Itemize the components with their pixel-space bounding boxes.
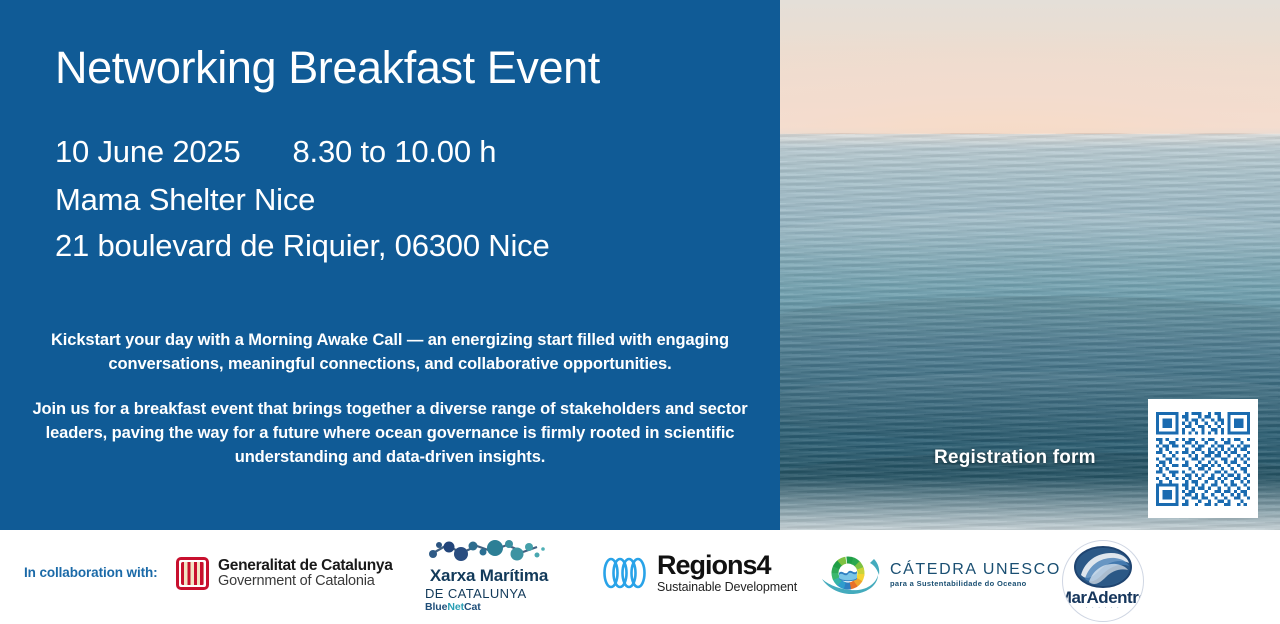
bluenetcat-cat: Cat: [464, 601, 481, 613]
regions4-subtitle: Sustainable Development: [657, 581, 797, 594]
catalonia-shield-icon: [176, 557, 209, 590]
logo-generalitat-de-catalunya[interactable]: Generalitat de Catalunya Government of C…: [176, 557, 393, 590]
maradentro-circle: MarAdentro · · · · · ·: [1062, 540, 1144, 622]
xarxa-name: Xarxa Marítima: [430, 566, 548, 586]
wave-band: [780, 212, 1280, 266]
collaboration-label: In collaboration with:: [24, 565, 158, 580]
description-paragraph-2: Join us for a breakfast event that bring…: [14, 398, 766, 470]
bluenetcat-wordmark: BlueNetCat: [425, 601, 481, 613]
event-poster: Networking Breakfast Event 10 June 20258…: [0, 0, 1280, 624]
event-venue: Mama Shelter Nice: [55, 182, 315, 218]
sunset-sky-glow: [780, 0, 1280, 134]
event-time: 8.30 to 10.00 h: [293, 134, 497, 170]
unesco-subtitle: para a Sustentabilidade do Oceano: [890, 580, 1061, 589]
xarxa-subtitle: DE CATALUNYA: [425, 586, 527, 601]
overlapping-ellipses-icon: [602, 555, 650, 591]
sdg-wheel-whale-icon: [818, 549, 884, 601]
logo-regions4[interactable]: Regions4 Sustainable Development: [602, 551, 797, 594]
bluenetcat-blue: Blue: [425, 601, 447, 613]
logo-catedra-unesco[interactable]: CÁTEDRA UNESCO para a Sustentabilidade d…: [818, 549, 1061, 601]
wave-band: [780, 296, 1280, 356]
description-paragraph-1: Kickstart your day with a Morning Awake …: [14, 329, 766, 377]
bluenetcat-net: Net: [447, 601, 464, 613]
generalitat-name: Generalitat de Catalunya: [218, 557, 393, 574]
qr-code-icon[interactable]: [1156, 412, 1250, 506]
registration-qr-card[interactable]: [1148, 399, 1258, 518]
regions4-name: Regions4: [657, 551, 797, 579]
event-address: 21 boulevard de Riquier, 06300 Nice: [55, 228, 550, 264]
logo-xarxa-maritima[interactable]: Xarxa Marítima DE CATALUNYA BlueNetCat: [425, 536, 553, 613]
event-date: 10 June 2025: [55, 134, 241, 170]
unesco-name: CÁTEDRA UNESCO: [890, 561, 1061, 579]
generalitat-subtitle: Government of Catalonia: [218, 574, 393, 590]
page-title: Networking Breakfast Event: [55, 42, 600, 94]
registration-form-label: Registration form: [934, 447, 1096, 469]
event-datetime-line: 10 June 20258.30 to 10.00 h: [55, 134, 496, 170]
logo-maradentro[interactable]: MarAdentro · · · · · ·: [1062, 540, 1144, 622]
maradentro-subtitle: · · · · · ·: [1086, 605, 1121, 611]
network-nodes-icon: [425, 536, 553, 564]
